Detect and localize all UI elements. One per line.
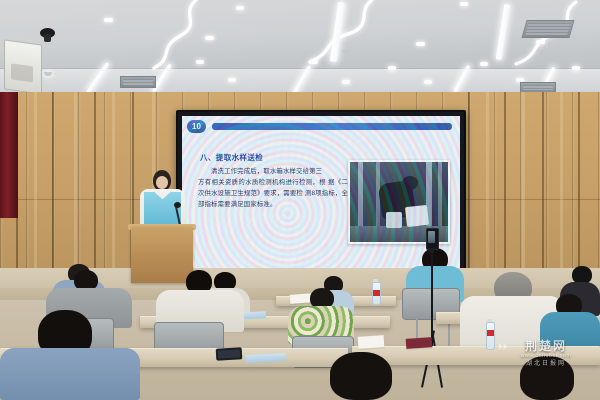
downlight-icon (536, 40, 545, 44)
water-bottle (486, 322, 495, 350)
window-curtain (0, 92, 18, 218)
downlight-icon (572, 66, 580, 70)
watermark-brand: 荆楚网 (500, 340, 592, 353)
downlight-icon (342, 80, 350, 84)
watermark-subtitle: 湖北日报网 (500, 360, 592, 368)
ceiling (0, 0, 600, 96)
downlight-icon (196, 60, 204, 64)
smartphone-on-desk[interactable] (216, 347, 243, 360)
podium (131, 227, 193, 283)
microphone-icon (174, 202, 181, 208)
folder (406, 337, 433, 349)
slide-number-badge: 10 (187, 120, 206, 133)
slide-body-line: 方有相关资质的水质检测机构进行检测，根 (198, 179, 326, 186)
slide-body-text: 清洗工作完成后，取水箱水样交给第三 方有相关资质的水质检测机构进行检测，根 据《… (198, 166, 348, 210)
photo-sample-container (405, 205, 429, 227)
photo-sample-container (386, 212, 402, 228)
slide-header-bar: 10 (182, 120, 460, 133)
brand-logo-icon (498, 341, 509, 352)
projector-mount (44, 34, 51, 42)
conference-room-photo: 10 八、提取水样送检 清洗工作完成后，取水箱水样交给第三 方有相关资质的水质检… (0, 0, 600, 400)
slide-body-line: 清洗工作完成后，取水箱水样交给第三 (198, 166, 348, 177)
downlight-icon (424, 80, 432, 84)
downlight-icon (310, 60, 318, 64)
slide-heading: 八、提取水样送检 (200, 152, 263, 163)
downlight-icon (416, 42, 425, 46)
watermark: 荆楚网 www.cnhubei.com 湖北日报网 (500, 340, 592, 370)
downlight-icon (388, 66, 396, 70)
downlight-icon (205, 36, 214, 40)
watermark-url: www.cnhubei.com (500, 353, 592, 360)
camera-viewfinder (428, 231, 435, 243)
slide-content: 10 八、提取水样送检 清洗工作完成后，取水箱水样交给第三 方有相关资质的水质检… (182, 116, 460, 273)
screen-surface: 10 八、提取水样送检 清洗工作完成后，取水箱水样交给第三 方有相关资质的水质检… (182, 116, 460, 273)
downlight-icon (104, 18, 113, 22)
downlight-icon (460, 2, 468, 6)
air-vent (120, 76, 156, 88)
downlight-icon (236, 6, 244, 10)
air-vent (521, 20, 574, 38)
slide-title-rule (212, 123, 452, 130)
presenter-face (156, 176, 168, 189)
smoke-detector-icon (44, 72, 52, 76)
smoke-detector-icon (342, 50, 350, 54)
handout-paper (358, 335, 385, 349)
downlight-icon (480, 62, 488, 66)
downlight-icon (228, 78, 236, 82)
ceiling-projector (4, 39, 42, 94)
wavy-led-strip-icon (84, 0, 204, 74)
water-bottle (372, 282, 381, 305)
